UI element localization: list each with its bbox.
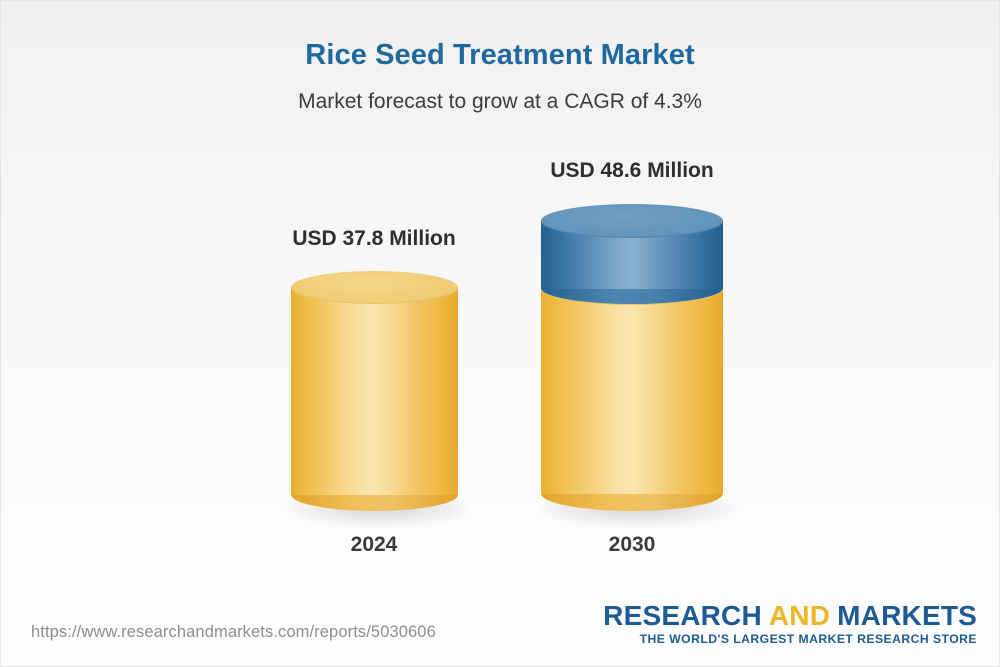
logo-tagline: THE WORLD'S LARGEST MARKET RESEARCH STOR… bbox=[603, 632, 977, 646]
logo-word-research: RESEARCH bbox=[603, 600, 762, 631]
logo-word-and: AND bbox=[769, 600, 830, 631]
cylinder-top-cap-2030 bbox=[541, 204, 723, 238]
cylinder-2030[interactable] bbox=[541, 204, 723, 511]
plot-area: USD 37.8 Million 2024 USD 48.6 Million bbox=[1, 1, 1000, 601]
bar-category-label-2030: 2030 bbox=[512, 533, 752, 557]
bar-group-2030[interactable]: USD 48.6 Million bbox=[1, 1, 1000, 601]
logo-word-markets: MARKETS bbox=[837, 600, 977, 631]
logo-wordmark: RESEARCHANDMARKETS bbox=[603, 601, 977, 630]
bar-value-label-2030: USD 48.6 Million bbox=[512, 159, 752, 183]
cylinder-wall-base-2030 bbox=[541, 289, 723, 494]
report-url[interactable]: https://www.researchandmarkets.com/repor… bbox=[31, 623, 436, 642]
chart-canvas: Rice Seed Treatment Market Market foreca… bbox=[0, 0, 1000, 667]
research-and-markets-logo[interactable]: RESEARCHANDMARKETS THE WORLD'S LARGEST M… bbox=[603, 601, 977, 646]
